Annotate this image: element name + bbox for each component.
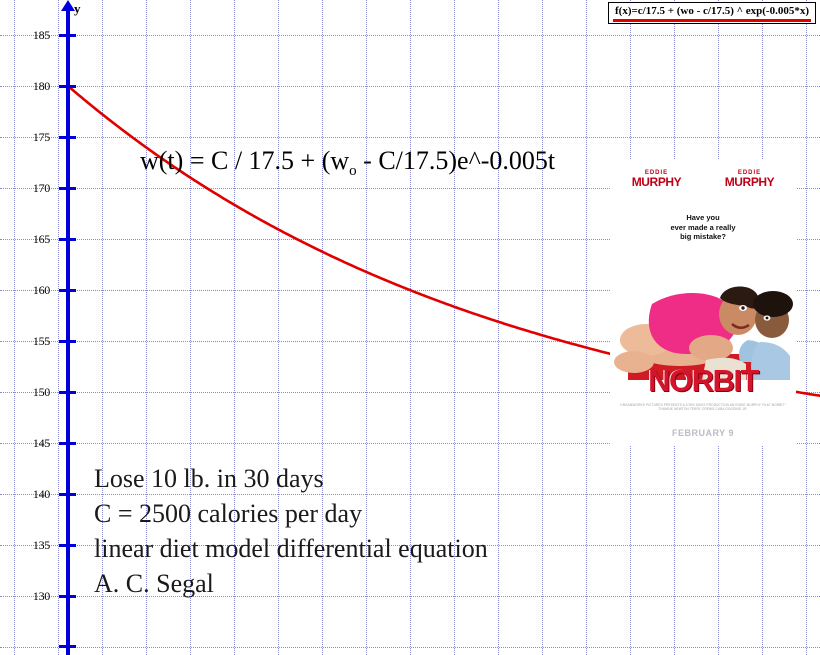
y-tick-label-155: 155 [8, 334, 50, 349]
equation-rhs: - C/17.5)e^-0.005t [357, 146, 556, 175]
y-tick-145 [59, 442, 76, 445]
poster-title: NORBIT [610, 365, 796, 396]
y-tick-135 [59, 544, 76, 547]
poster-star-right: EDDIE MURPHY [725, 170, 775, 188]
chart-canvas: y 185180175170165160155150145140135130 f… [0, 0, 820, 655]
poster-star-left-last: MURPHY [632, 176, 682, 188]
y-tick-130 [59, 595, 76, 598]
y-tick-155 [59, 340, 76, 343]
legend-box[interactable]: f(x)=c/17.5 + (wo - c/17.5) ^ exp(-0.005… [608, 2, 816, 24]
y-tick-label-140: 140 [8, 487, 50, 502]
y-axis-label: y [74, 1, 81, 17]
notes-block: Lose 10 lb. in 30 days C = 2500 calories… [94, 461, 488, 601]
note-line-goal: Lose 10 lb. in 30 days [94, 461, 488, 496]
y-axis-line [66, 8, 70, 655]
note-line-model: linear diet model differential equation [94, 531, 488, 566]
equation-annotation: w(t) = C / 17.5 + (wo - C/17.5)e^-0.005t [140, 146, 555, 180]
y-tick-185 [59, 34, 76, 37]
y-tick-label-175: 175 [8, 130, 50, 145]
note-line-calories: C = 2500 calories per day [94, 496, 488, 531]
poster-release-date: FEBRUARY 9 [610, 428, 796, 438]
norbit-movie-poster: EDDIE MURPHY EDDIE MURPHY Have youever m… [610, 160, 796, 445]
poster-star-right-last: MURPHY [725, 176, 775, 188]
y-tick-170 [59, 187, 76, 190]
poster-credits: DREAMWORKS PICTURES PRESENTS A JOHN DAVI… [618, 403, 788, 412]
legend-color-swatch [613, 19, 811, 22]
y-tick-165 [59, 238, 76, 241]
equation-subscript: o [349, 163, 357, 179]
poster-tagline: Have youever made a reallybig mistake? [610, 213, 796, 242]
y-tick-label-135: 135 [8, 538, 50, 553]
y-tick-label-170: 170 [8, 181, 50, 196]
y-tick-label-160: 160 [8, 283, 50, 298]
y-tick-label-165: 165 [8, 232, 50, 247]
y-tick-label-145: 145 [8, 436, 50, 451]
x-axis-origin-tick [59, 645, 76, 648]
y-tick-160 [59, 289, 76, 292]
y-tick-label-150: 150 [8, 385, 50, 400]
note-line-author: A. C. Segal [94, 566, 488, 601]
y-tick-label-185: 185 [8, 28, 50, 43]
poster-star-names: EDDIE MURPHY EDDIE MURPHY [610, 170, 796, 188]
y-tick-label-130: 130 [8, 589, 50, 604]
y-tick-150 [59, 391, 76, 394]
y-tick-label-180: 180 [8, 79, 50, 94]
y-tick-140 [59, 493, 76, 496]
poster-star-left: EDDIE MURPHY [632, 170, 682, 188]
legend-formula-text: f(x)=c/17.5 + (wo - c/17.5) ^ exp(-0.005… [612, 5, 812, 18]
y-tick-175 [59, 136, 76, 139]
equation-lhs: w(t) = C / 17.5 + (w [140, 146, 349, 175]
y-tick-180 [59, 85, 76, 88]
